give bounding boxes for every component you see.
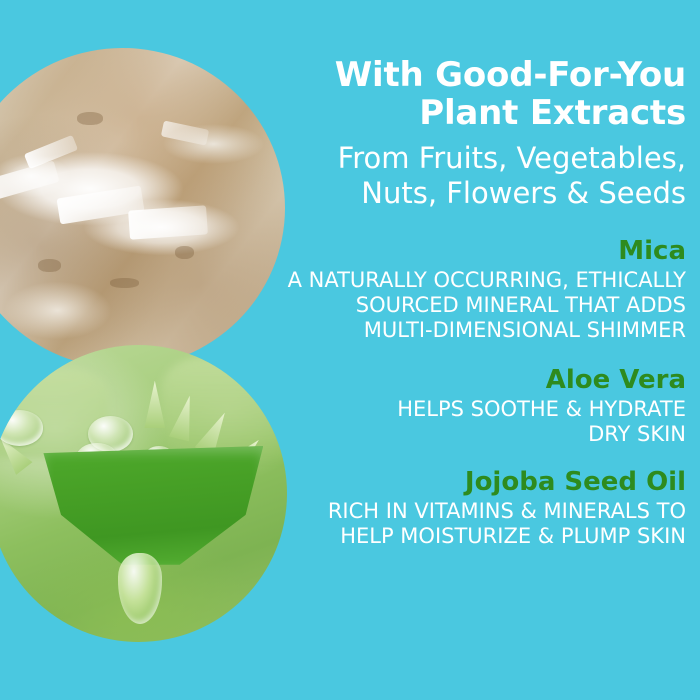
ingredient-block-aloe-vera: Aloe Vera HELPS SOOTHE & HYDRATE DRY SKI… bbox=[256, 365, 686, 447]
text-column: With Good-For-You Plant Extracts From Fr… bbox=[256, 0, 686, 549]
headline-line-1: With Good-For-You bbox=[256, 56, 686, 94]
aloe-vera-photo bbox=[0, 345, 287, 642]
ingredient-block-jojoba-seed-oil: Jojoba Seed Oil RICH IN VITAMINS & MINER… bbox=[256, 467, 686, 549]
mica-speck bbox=[77, 112, 103, 125]
aloe-leaf-cut bbox=[43, 446, 263, 565]
ingredient-desc-line: A NATURALLY OCCURRING, ETHICALLY bbox=[256, 268, 686, 293]
ingredient-desc-line: HELP MOISTURIZE & PLUMP SKIN bbox=[256, 524, 686, 549]
mica-shimmer-shard bbox=[160, 120, 208, 145]
ingredient-block-mica: Mica A NATURALLY OCCURRING, ETHICALLY SO… bbox=[256, 236, 686, 343]
mica-speck bbox=[38, 259, 61, 272]
page-subtitle: From Fruits, Vegetables, Nuts, Flowers &… bbox=[256, 132, 686, 211]
ingredient-desc-line: HELPS SOOTHE & HYDRATE bbox=[256, 397, 686, 422]
subhead-line-1: From Fruits, Vegetables, bbox=[256, 141, 686, 176]
ingredient-description-aloe-vera: HELPS SOOTHE & HYDRATE DRY SKIN bbox=[256, 395, 686, 447]
mica-mineral-photo bbox=[0, 48, 285, 368]
page-title: With Good-For-You Plant Extracts bbox=[256, 0, 686, 132]
mica-speck bbox=[175, 246, 195, 259]
ingredient-desc-line: MULTI-DIMENSIONAL SHIMMER bbox=[256, 318, 686, 343]
mica-shimmer-shard bbox=[128, 205, 208, 239]
ingredient-description-jojoba-seed-oil: RICH IN VITAMINS & MINERALS TO HELP MOIS… bbox=[256, 497, 686, 549]
ingredient-name-mica: Mica bbox=[256, 236, 686, 266]
ingredient-desc-line: DRY SKIN bbox=[256, 422, 686, 447]
ingredient-name-aloe-vera: Aloe Vera bbox=[256, 365, 686, 395]
aloe-gel-drip bbox=[118, 553, 163, 624]
subhead-line-2: Nuts, Flowers & Seeds bbox=[256, 176, 686, 211]
ingredient-name-jojoba-seed-oil: Jojoba Seed Oil bbox=[256, 467, 686, 497]
ingredient-description-mica: A NATURALLY OCCURRING, ETHICALLY SOURCED… bbox=[256, 266, 686, 343]
headline-line-2: Plant Extracts bbox=[256, 94, 686, 132]
ingredient-desc-line: RICH IN VITAMINS & MINERALS TO bbox=[256, 499, 686, 524]
mica-speck bbox=[110, 278, 139, 288]
ingredient-desc-line: SOURCED MINERAL THAT ADDS bbox=[256, 293, 686, 318]
ingredient-benefits-poster: With Good-For-You Plant Extracts From Fr… bbox=[0, 0, 700, 700]
